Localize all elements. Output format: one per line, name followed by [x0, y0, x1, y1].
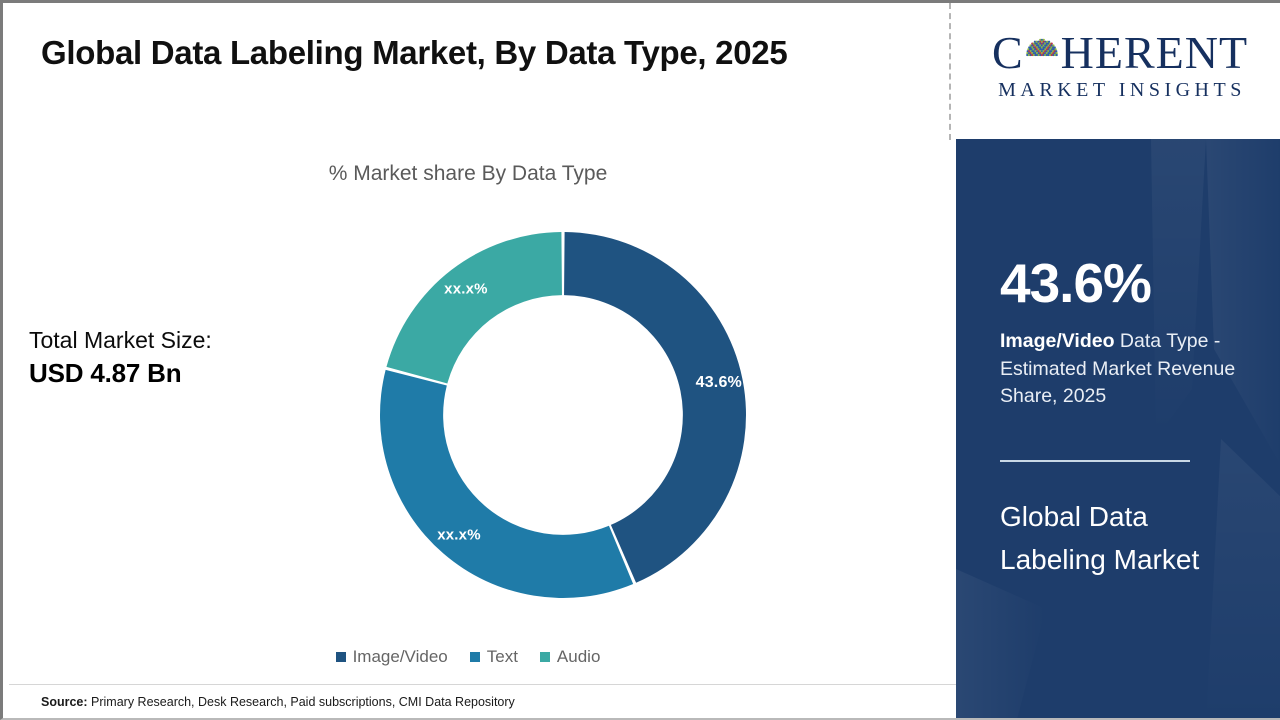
legend-label: Image/Video [353, 648, 448, 665]
stat-panel: 43.6% Image/Video Data Type - Estimated … [956, 139, 1280, 720]
donut-slice [564, 232, 746, 583]
brand-logo-word-rest: HERENT [1061, 30, 1248, 76]
slice-label-text: xx.x% [437, 527, 481, 544]
total-market-size-block: Total Market Size: USD 4.87 Bn [29, 325, 329, 391]
total-market-size-label: Total Market Size: [29, 325, 329, 356]
slice-label-audio: xx.x% [444, 281, 488, 298]
chart-subtitle: % Market share By Data Type [3, 162, 933, 186]
brand-logo-letter-c: C [992, 30, 1024, 76]
legend-label: Text [487, 648, 518, 665]
chart-legend: Image/VideoTextAudio [3, 648, 933, 665]
brand-logo-tagline: MARKET INSIGHTS [972, 79, 1268, 102]
source-text: Primary Research, Desk Research, Paid su… [91, 695, 515, 709]
stat-market-name: Global Data Labeling Market [1000, 495, 1215, 582]
stat-divider [1000, 460, 1190, 462]
legend-item[interactable]: Audio [540, 648, 600, 665]
stat-description: Image/Video Data Type - Estimated Market… [1000, 328, 1252, 411]
stat-panel-content: 43.6% Image/Video Data Type - Estimated … [1000, 139, 1265, 720]
donut-slice [386, 232, 562, 383]
brand-logo-inner: C HERENT MARKET INSIGHTS [972, 30, 1268, 102]
source-label: Source: [41, 695, 88, 709]
panel-dashed-divider [949, 3, 951, 140]
infographic-canvas: Global Data Labeling Market, By Data Typ… [0, 0, 1280, 720]
legend-swatch-icon [540, 652, 550, 662]
slice-label-image-video: 43.6% [696, 374, 742, 392]
brand-logo-wordmark: C HERENT [972, 30, 1268, 76]
legend-label: Audio [557, 648, 600, 665]
right-panel: C HERENT MARKET INSIGHTS [956, 3, 1280, 720]
donut-slice [380, 370, 633, 598]
legend-item[interactable]: Image/Video [336, 648, 448, 665]
source-note: Source: Primary Research, Desk Research,… [41, 695, 515, 709]
legend-swatch-icon [470, 652, 480, 662]
globe-icon [1024, 37, 1060, 73]
stat-percent-value: 43.6% [1000, 256, 1151, 311]
donut-chart: 43.6% xx.x% xx.x% [373, 225, 753, 605]
page-title: Global Data Labeling Market, By Data Typ… [41, 34, 921, 73]
brand-logo[interactable]: C HERENT MARKET INSIGHTS [956, 3, 1280, 139]
stat-description-highlight: Image/Video [1000, 330, 1115, 352]
chart-main-area: Global Data Labeling Market, By Data Typ… [3, 3, 950, 720]
total-market-size-value: USD 4.87 Bn [29, 356, 329, 391]
legend-item[interactable]: Text [470, 648, 518, 665]
legend-swatch-icon [336, 652, 346, 662]
donut-chart-svg [373, 225, 753, 605]
